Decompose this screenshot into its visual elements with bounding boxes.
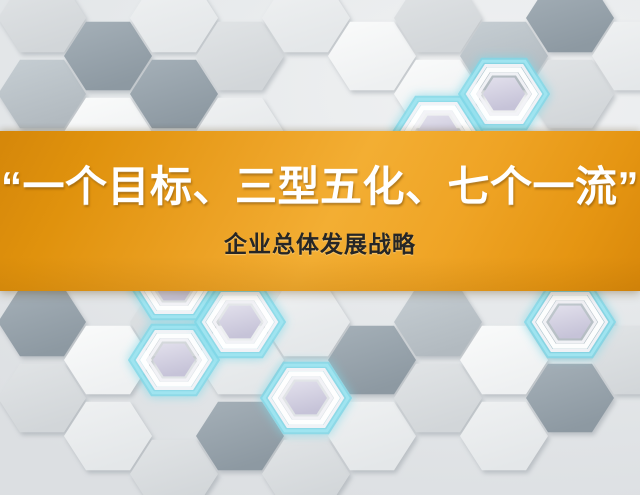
hexagon-glow-tile [132, 327, 216, 392]
hexagon-tile [394, 288, 482, 357]
hexagon-glow-tile [528, 289, 612, 354]
hexagon-tile [64, 22, 152, 91]
hexagon-glow-tile [264, 365, 348, 430]
hexagon-tile [460, 402, 548, 471]
hexagon-tile [394, 364, 482, 433]
page-title: “一个目标、三型五化、七个一流” [0, 163, 640, 212]
hexagon-glow-tile [462, 61, 546, 126]
hexagon-tile [196, 22, 284, 91]
hexagon-tile [130, 60, 218, 129]
slide-root: “一个目标、三型五化、七个一流” 企业总体发展战略 [0, 0, 640, 495]
hexagon-tile [526, 364, 614, 433]
page-subtitle: 企业总体发展战略 [224, 225, 416, 259]
hexagon-tile [328, 22, 416, 91]
title-banner: “一个目标、三型五化、七个一流” 企业总体发展战略 [0, 131, 640, 291]
title-banner-content: “一个目标、三型五化、七个一流” 企业总体发展战略 [0, 131, 640, 291]
hexagon-tile [64, 402, 152, 471]
hexagon-glow-tile [198, 289, 282, 354]
